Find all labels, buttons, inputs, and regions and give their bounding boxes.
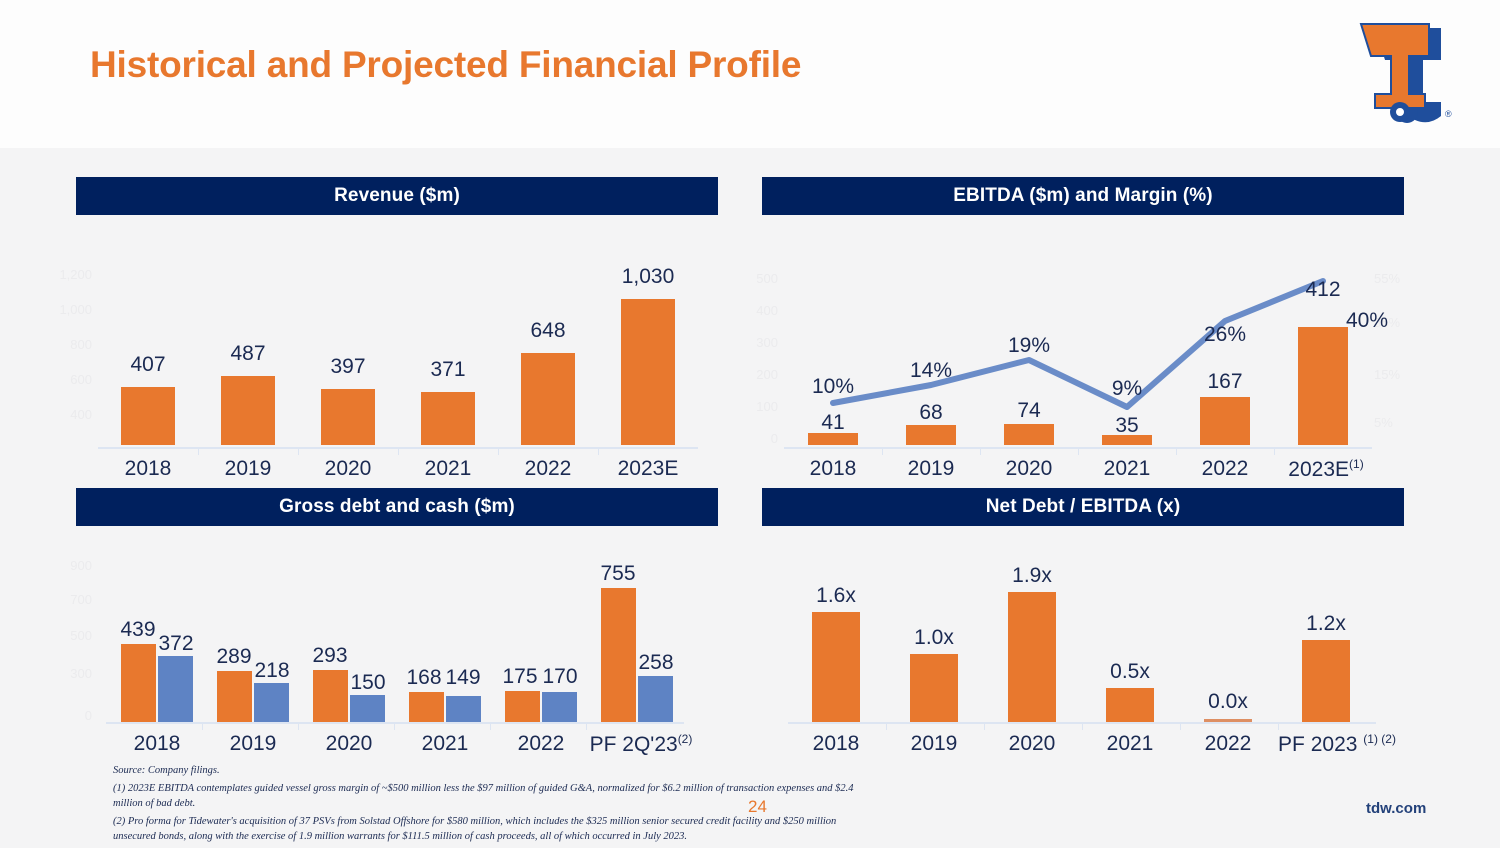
value-label: 372 xyxy=(142,632,210,656)
category-text: PF 2Q'23 xyxy=(590,733,678,756)
category-label: 2018 xyxy=(123,732,191,756)
category-label: 2018 xyxy=(114,457,182,481)
website-footer[interactable]: tdw.com xyxy=(1366,800,1426,817)
margin-label: 26% xyxy=(1191,323,1259,347)
value-label: 35 xyxy=(1093,414,1161,438)
footnote-2: (2) Pro forma for Tidewater's acquisitio… xyxy=(113,815,873,845)
value-label: 170 xyxy=(526,665,594,689)
value-label: 371 xyxy=(414,358,482,382)
margin-label: 10% xyxy=(799,375,867,399)
chart-panel-gross-debt-cash: Gross debt and cash ($m) 900 700 500 300… xyxy=(76,488,718,770)
bar-net-debt-PF2023 xyxy=(1302,640,1350,722)
category-label: 2021 xyxy=(414,457,482,481)
chart-panel-net-debt-ebitda: Net Debt / EBITDA (x) 1.6x 1.0x 1.9x 0.5… xyxy=(762,488,1404,770)
value-label: 1.2x xyxy=(1292,612,1360,636)
margin-label: 14% xyxy=(897,359,965,383)
category-label: 2020 xyxy=(998,732,1066,756)
value-label: 1,030 xyxy=(610,265,686,289)
bar-revenue-2018 xyxy=(121,387,175,445)
category-label: 2022 xyxy=(507,732,575,756)
category-label: 2018 xyxy=(802,732,870,756)
value-label: 407 xyxy=(114,353,182,377)
tidewater-logo-icon: ® xyxy=(1345,16,1453,126)
value-label: 293 xyxy=(296,644,364,668)
margin-label: 9% xyxy=(1093,377,1161,401)
value-label: 397 xyxy=(314,355,382,379)
value-label: 258 xyxy=(622,651,690,675)
value-label: 149 xyxy=(429,666,497,690)
category-label: 2021 xyxy=(1093,457,1161,481)
value-label: 0.5x xyxy=(1096,660,1164,684)
bar-revenue-2023E xyxy=(621,299,675,445)
bar-cash-2018 xyxy=(158,656,193,722)
bar-cash-PF2Q23 xyxy=(638,676,673,722)
bar-gross-debt-2022 xyxy=(505,691,540,722)
page-number: 24 xyxy=(748,797,767,817)
category-label: 2018 xyxy=(799,457,867,481)
category-label: 2019 xyxy=(900,732,968,756)
svg-text:®: ® xyxy=(1445,109,1452,119)
chart-panel-revenue: Revenue ($m) 1,200 1,000 800 600 400 407… xyxy=(76,177,718,495)
bar-gross-debt-2021 xyxy=(409,692,444,722)
bar-net-debt-2020 xyxy=(1008,592,1056,722)
chart-plot-ebitda: 500 400 300 200 100 0 55% 35% 15% 5% 41 … xyxy=(762,215,1404,455)
value-label: 74 xyxy=(995,399,1063,423)
category-label: 2020 xyxy=(315,732,383,756)
bar-cash-2021 xyxy=(446,696,481,722)
value-label: 150 xyxy=(334,671,402,695)
bar-net-debt-2019 xyxy=(910,654,958,722)
slide-header: Historical and Projected Financial Profi… xyxy=(0,0,1500,148)
category-label: 2020 xyxy=(995,457,1063,481)
category-label: PF 2Q'23(2) xyxy=(586,732,696,757)
category-label: 2022 xyxy=(1191,457,1259,481)
value-label: 1.9x xyxy=(998,564,1066,588)
value-label: 41 xyxy=(799,411,867,435)
category-label: 2023E xyxy=(610,457,686,481)
category-text: PF 2023 xyxy=(1278,733,1357,756)
bar-revenue-2019 xyxy=(221,376,275,445)
category-label: 2019 xyxy=(214,457,282,481)
bar-revenue-2021 xyxy=(421,392,475,445)
category-label: 2023E(1) xyxy=(1281,457,1371,482)
chart-title-gross-debt-cash: Gross debt and cash ($m) xyxy=(76,488,718,526)
value-label: 1.6x xyxy=(802,584,870,608)
value-label: 487 xyxy=(214,342,282,366)
bar-net-debt-2021 xyxy=(1106,688,1154,722)
value-label: 68 xyxy=(897,401,965,425)
category-label: PF 2023 (1) (2) xyxy=(1272,732,1402,757)
category-label: 2019 xyxy=(219,732,287,756)
chart-plot-revenue: 1,200 1,000 800 600 400 407 487 397 371 … xyxy=(76,215,718,455)
chart-plot-net-debt-ebitda: 1.6x 1.0x 1.9x 0.5x 0.0x 1.2x xyxy=(762,526,1404,730)
footnote-source: Source: Company filings. xyxy=(113,764,873,779)
bar-revenue-2022 xyxy=(521,353,575,445)
category-label: 2021 xyxy=(1096,732,1164,756)
footnote-ref: (1) (2) xyxy=(1363,732,1396,746)
value-label: 755 xyxy=(584,562,652,586)
chart-plot-gross-debt-cash: 900 700 500 300 0 439 289 293 168 175 75… xyxy=(76,526,718,730)
bar-cash-2020 xyxy=(350,695,385,722)
value-label: 648 xyxy=(514,319,582,343)
bar-net-debt-2018 xyxy=(812,612,860,722)
value-label: 1.0x xyxy=(900,626,968,650)
margin-label: 19% xyxy=(995,334,1063,358)
chart-title-revenue: Revenue ($m) xyxy=(76,177,718,215)
value-label: 412 xyxy=(1289,278,1357,302)
value-label: 167 xyxy=(1191,370,1259,394)
x-axis-line xyxy=(106,722,684,724)
footnote-ref: (2) xyxy=(678,732,693,746)
margin-label: 40% xyxy=(1346,309,1406,333)
bar-cash-2022 xyxy=(542,692,577,722)
category-label: 2020 xyxy=(314,457,382,481)
chart-panel-ebitda: EBITDA ($m) and Margin (%) 500 400 300 2… xyxy=(762,177,1404,495)
footnote-ref: (1) xyxy=(1349,457,1364,471)
bar-net-debt-2022 xyxy=(1204,719,1252,722)
chart-title-net-debt-ebitda: Net Debt / EBITDA (x) xyxy=(762,488,1404,526)
bar-cash-2019 xyxy=(254,683,289,722)
chart-title-ebitda: EBITDA ($m) and Margin (%) xyxy=(762,177,1404,215)
category-label: 2022 xyxy=(1194,732,1262,756)
value-label: 0.0x xyxy=(1194,690,1262,714)
value-label: 218 xyxy=(238,659,306,683)
category-label: 2019 xyxy=(897,457,965,481)
category-label: 2022 xyxy=(514,457,582,481)
page-title: Historical and Projected Financial Profi… xyxy=(90,44,801,86)
category-label: 2021 xyxy=(411,732,479,756)
category-text: 2023E xyxy=(1288,458,1349,481)
bar-revenue-2020 xyxy=(321,389,375,445)
